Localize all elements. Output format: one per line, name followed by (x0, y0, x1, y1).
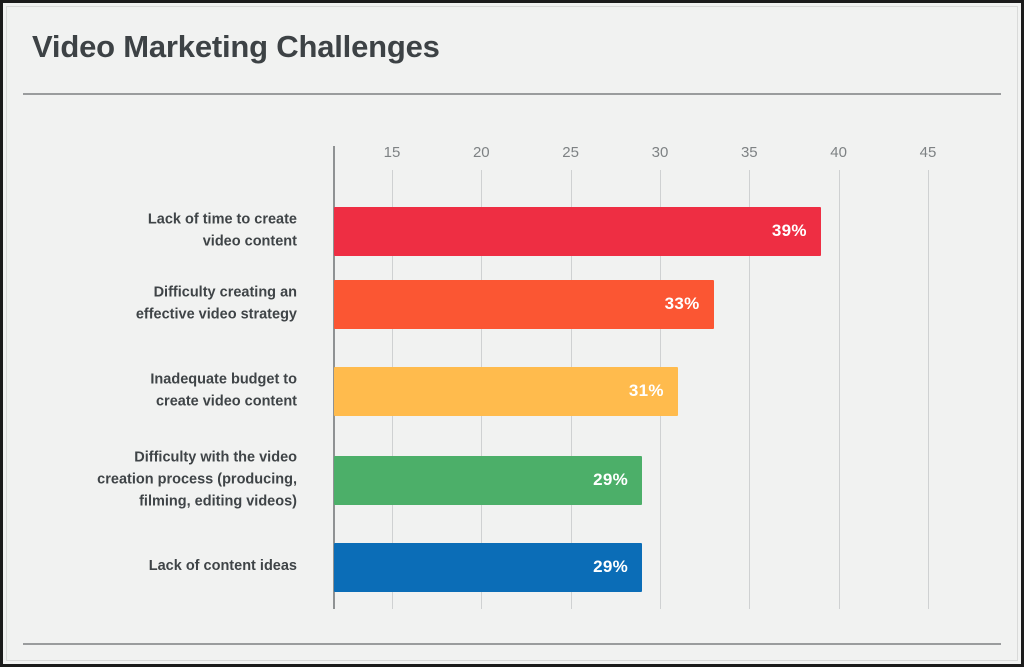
x-axis-tick-label: 15 (384, 144, 401, 161)
bar[interactable]: 29% (334, 456, 642, 505)
category-label-line: Lack of time to create (148, 211, 297, 227)
category-label-line: effective video strategy (136, 306, 297, 322)
chart-frame: Video Marketing Challenges 1520253035404… (6, 6, 1018, 661)
bar[interactable]: 29% (334, 543, 642, 592)
gridline (839, 170, 840, 609)
category-label-line: filming, editing videos) (139, 493, 297, 509)
x-axis-tick-label: 45 (920, 144, 937, 161)
category-label-line: Difficulty creating an (154, 284, 297, 300)
category-label: Difficulty with the videocreation proces… (7, 447, 297, 512)
category-label-line: create video content (156, 393, 297, 409)
category-label-line: Inadequate budget to (150, 371, 297, 387)
category-label-line: video content (203, 233, 297, 249)
category-label: Inadequate budget tocreate video content (7, 369, 297, 413)
bar-value-label: 29% (593, 557, 642, 577)
x-axis-tick-label: 30 (652, 144, 669, 161)
bar[interactable]: 33% (334, 280, 714, 329)
category-label: Difficulty creating aneffective video st… (7, 282, 297, 326)
plot-area: 15202530354045Lack of time to createvide… (7, 7, 1024, 667)
bar-value-label: 39% (772, 221, 821, 241)
category-label: Lack of time to createvideo content (7, 209, 297, 253)
chart-screenshot: Video Marketing Challenges 1520253035404… (0, 0, 1024, 667)
category-label-line: creation process (producing, (97, 471, 297, 487)
bar-value-label: 33% (665, 294, 714, 314)
bar[interactable]: 39% (334, 207, 821, 256)
x-axis-tick-label: 35 (741, 144, 758, 161)
bar-value-label: 29% (593, 470, 642, 490)
category-label: Lack of content ideas (7, 556, 297, 578)
bar-value-label: 31% (629, 381, 678, 401)
gridline (928, 170, 929, 609)
x-axis-tick-label: 25 (562, 144, 579, 161)
x-axis-tick-label: 20 (473, 144, 490, 161)
x-axis-tick-label: 40 (830, 144, 847, 161)
category-label-line: Lack of content ideas (149, 558, 297, 574)
bar[interactable]: 31% (334, 367, 678, 416)
category-label-line: Difficulty with the video (134, 449, 297, 465)
